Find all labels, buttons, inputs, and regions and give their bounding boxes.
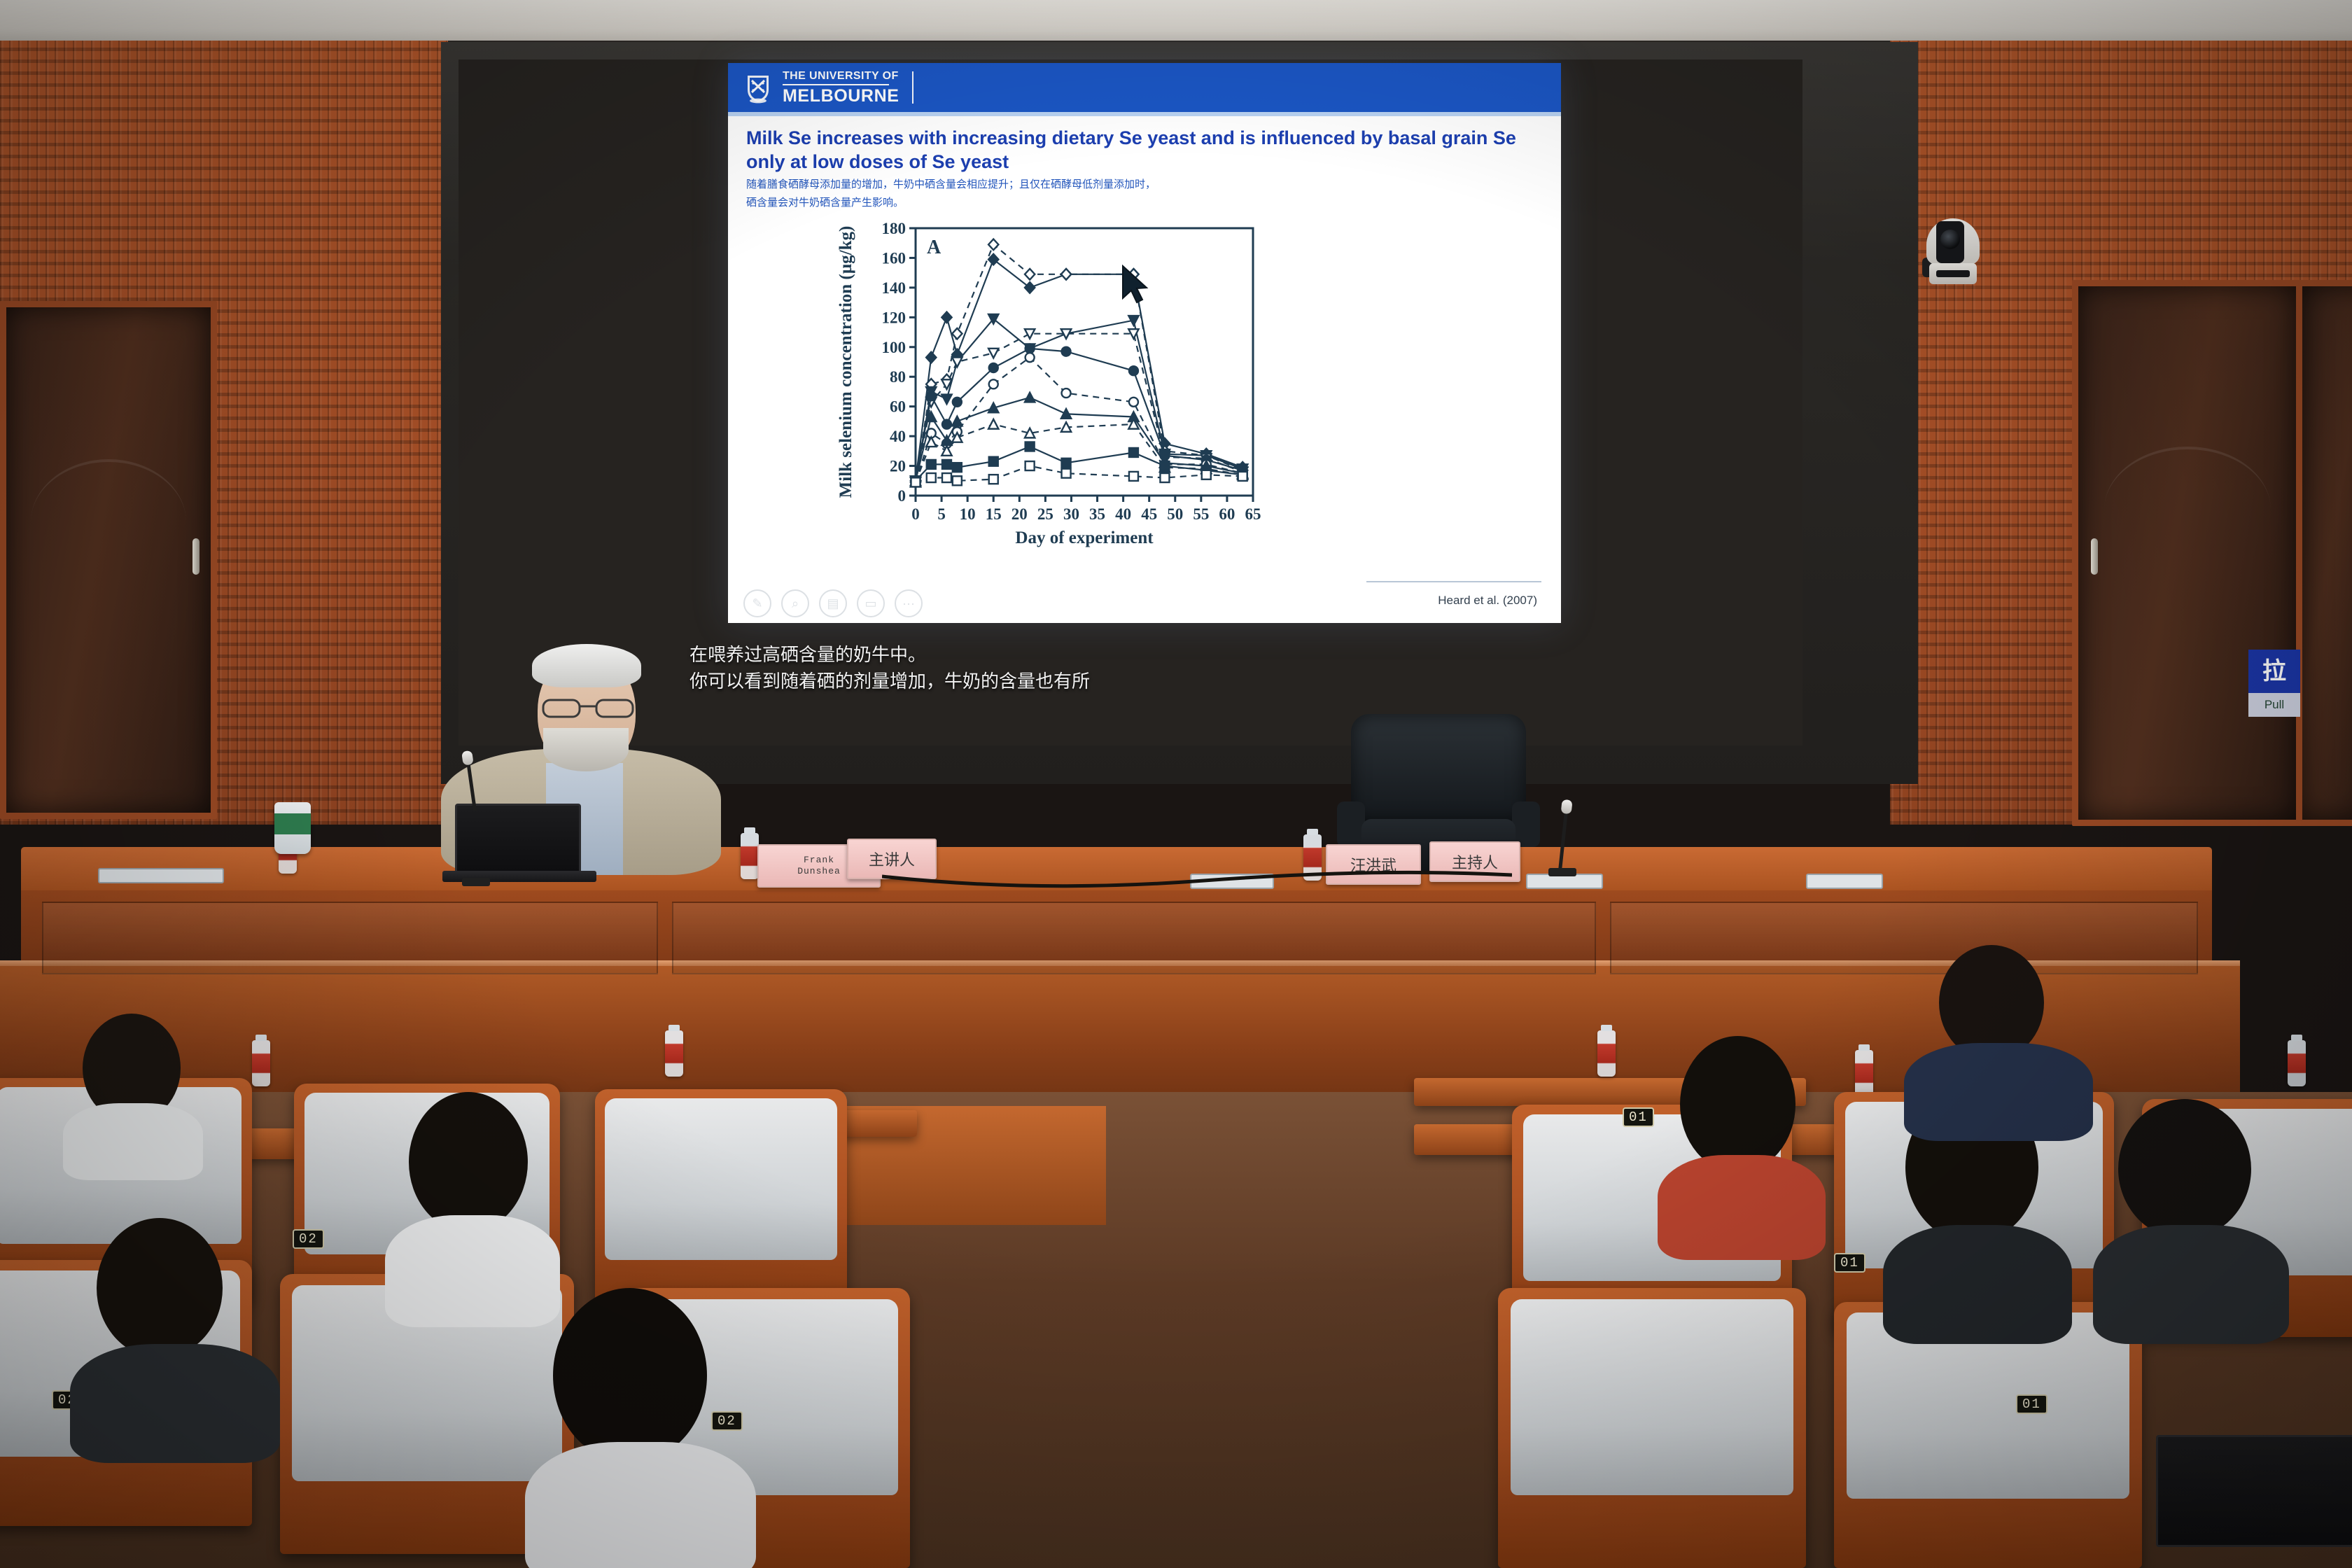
slide-title: Milk Se increases with increasing dietar… bbox=[746, 126, 1543, 174]
seat-number-plate: 01 bbox=[1623, 1107, 1654, 1127]
audience-torso bbox=[70, 1344, 280, 1463]
seat-number-plate: 02 bbox=[293, 1229, 324, 1249]
seat-pad bbox=[1511, 1299, 1794, 1495]
svg-text:180: 180 bbox=[882, 221, 906, 237]
caption-line-2: 你可以看到随着硒的剂量增加，牛奶的含量也有所 bbox=[689, 671, 1090, 692]
svg-text:60: 60 bbox=[1219, 505, 1235, 523]
door-pull-sign: 拉 Pull bbox=[2248, 650, 2300, 717]
audience-torso bbox=[2093, 1225, 2289, 1344]
screen-icon[interactable]: ▭ bbox=[857, 589, 885, 617]
citation-rule bbox=[1366, 581, 1541, 582]
laptop-screen[interactable] bbox=[455, 804, 581, 874]
bottle-cap bbox=[255, 1035, 267, 1041]
melbourne-crest-icon bbox=[743, 71, 773, 104]
bottle-cap bbox=[1601, 1025, 1612, 1031]
mic-base bbox=[1548, 868, 1576, 876]
svg-text:35: 35 bbox=[1089, 505, 1105, 523]
nameplate-line-1: Frank bbox=[804, 855, 834, 866]
chair-arm-left bbox=[1337, 801, 1365, 847]
svg-text:40: 40 bbox=[890, 428, 906, 445]
audience-member bbox=[1918, 945, 2072, 1127]
svg-text:Milk selenium concentration (µ: Milk selenium concentration (µg/kg) bbox=[836, 226, 855, 498]
water-bottle[interactable] bbox=[252, 1040, 270, 1086]
coffee-cup[interactable] bbox=[274, 802, 311, 854]
ptz-camera-icon bbox=[1924, 218, 1982, 286]
audience-head bbox=[553, 1288, 707, 1463]
svg-text:50: 50 bbox=[1167, 505, 1183, 523]
audience-head bbox=[97, 1218, 223, 1358]
slide-brand-header: THE UNIVERSITY OF MELBOURNE bbox=[728, 63, 1561, 112]
bottle-cap bbox=[744, 827, 755, 834]
water-bottle[interactable] bbox=[1855, 1050, 1873, 1096]
chart-svg: A020406080100120140160180051015202530354… bbox=[833, 221, 1267, 550]
audience-member bbox=[1666, 1036, 1813, 1246]
presenter-toolbar[interactable]: ✎ ⌕ ▤ ▭ ··· bbox=[743, 589, 923, 617]
mouse-cursor-icon bbox=[1120, 265, 1151, 305]
svg-text:80: 80 bbox=[890, 368, 906, 386]
header-divider bbox=[912, 71, 913, 104]
audience-head bbox=[2118, 1099, 2251, 1239]
bottle-cap bbox=[1307, 829, 1318, 835]
audience-head bbox=[1680, 1036, 1795, 1172]
pen-icon[interactable]: ✎ bbox=[743, 589, 771, 617]
audience-seat[interactable] bbox=[595, 1089, 847, 1320]
slide-subtitle-line1: 随着膳食硒酵母添加量的增加，牛奶中硒含量会相应提升；且仅在硒酵母低剂量添加时， bbox=[746, 177, 1543, 192]
magnifier-icon[interactable]: ⌕ bbox=[781, 589, 809, 617]
bottle-cap bbox=[1858, 1044, 1870, 1051]
svg-text:160: 160 bbox=[882, 249, 906, 267]
slide-citation: Heard et al. (2007) bbox=[1438, 594, 1537, 608]
water-bottle[interactable] bbox=[2288, 1040, 2306, 1086]
svg-text:45: 45 bbox=[1141, 505, 1157, 523]
caption-line-1: 在喂养过高硒含量的奶牛中。 bbox=[689, 645, 926, 666]
mic-base bbox=[462, 878, 490, 886]
dais-panel bbox=[672, 902, 1596, 974]
door-arch-detail bbox=[2104, 447, 2270, 510]
water-bottle[interactable] bbox=[1597, 1030, 1616, 1077]
bottle-cap bbox=[668, 1025, 680, 1031]
audience-member bbox=[2100, 1099, 2282, 1337]
university-wordmark: THE UNIVERSITY OF MELBOURNE bbox=[783, 71, 899, 105]
chair-arm-right bbox=[1512, 801, 1540, 847]
svg-text:A: A bbox=[927, 237, 941, 258]
slide-subtitle-line2: 硒含量会对牛奶硒含量产生影响。 bbox=[746, 195, 1543, 210]
svg-text:55: 55 bbox=[1193, 505, 1209, 523]
seat-pad bbox=[605, 1098, 836, 1260]
seat-number-plate: 01 bbox=[1834, 1253, 1865, 1273]
audience-torso bbox=[525, 1442, 756, 1568]
audience-member bbox=[532, 1288, 742, 1568]
audience-member bbox=[84, 1218, 259, 1449]
svg-text:Day of experiment: Day of experiment bbox=[1015, 528, 1154, 547]
brand-line-1: THE UNIVERSITY OF bbox=[783, 71, 899, 82]
brand-rule bbox=[783, 84, 889, 85]
svg-text:5: 5 bbox=[937, 505, 946, 523]
desk-mat bbox=[98, 868, 224, 883]
seat-number-plate: 01 bbox=[2016, 1394, 2047, 1414]
svg-text:25: 25 bbox=[1037, 505, 1053, 523]
audience-seat[interactable] bbox=[1498, 1288, 1806, 1568]
svg-text:100: 100 bbox=[882, 339, 906, 356]
live-caption: 在喂养过高硒含量的奶牛中。 你可以看到随着硒的剂量增加，牛奶的含量也有所 bbox=[689, 643, 1090, 695]
svg-text:40: 40 bbox=[1115, 505, 1131, 523]
door-arch-detail bbox=[31, 459, 186, 522]
slide-body: Milk Se increases with increasing dietar… bbox=[728, 116, 1561, 623]
audience-torso bbox=[1658, 1155, 1826, 1260]
svg-text:0: 0 bbox=[911, 505, 920, 523]
glasses-icon bbox=[540, 696, 636, 720]
lecture-hall-photo: 拉 Pull bbox=[0, 0, 2352, 1568]
door-handle-left[interactable] bbox=[192, 538, 199, 575]
svg-text:60: 60 bbox=[890, 398, 906, 416]
camera-lens bbox=[1940, 230, 1960, 249]
svg-text:20: 20 bbox=[890, 458, 906, 475]
audience-laptop[interactable] bbox=[2156, 1435, 2352, 1547]
door-left[interactable] bbox=[0, 301, 217, 819]
pull-sign-en: Pull bbox=[2248, 693, 2300, 717]
audience-head bbox=[409, 1092, 528, 1232]
door-handle-right[interactable] bbox=[2091, 538, 2098, 575]
chair-back bbox=[1351, 714, 1526, 822]
brand-line-2: MELBOURNE bbox=[783, 87, 899, 105]
svg-text:0: 0 bbox=[898, 487, 906, 505]
mic-head bbox=[1561, 799, 1573, 814]
speaker-beard bbox=[543, 728, 629, 771]
camera-slot bbox=[1936, 270, 1970, 277]
audience-torso bbox=[63, 1103, 203, 1180]
svg-text:120: 120 bbox=[882, 309, 906, 326]
audience-torso bbox=[1883, 1225, 2072, 1344]
audience-member bbox=[392, 1092, 553, 1323]
svg-text:15: 15 bbox=[986, 505, 1002, 523]
svg-text:30: 30 bbox=[1063, 505, 1079, 523]
audience-member bbox=[67, 1014, 200, 1175]
more-icon[interactable]: ··· bbox=[895, 589, 923, 617]
door-right[interactable] bbox=[2072, 280, 2303, 826]
svg-text:20: 20 bbox=[1011, 505, 1028, 523]
milk-selenium-chart: A020406080100120140160180051015202530354… bbox=[833, 221, 1267, 550]
slides-icon[interactable]: ▤ bbox=[819, 589, 847, 617]
door-right-secondary[interactable] bbox=[2296, 280, 2352, 826]
svg-text:140: 140 bbox=[882, 279, 906, 297]
presentation-slide: THE UNIVERSITY OF MELBOURNE Milk Se incr… bbox=[728, 63, 1561, 623]
dais-panel bbox=[42, 902, 658, 974]
dais-panel bbox=[1610, 902, 2198, 974]
nameplate-line-2: Dunshea bbox=[797, 866, 841, 877]
svg-text:10: 10 bbox=[960, 505, 976, 523]
pull-sign-zh: 拉 bbox=[2248, 650, 2300, 693]
water-bottle[interactable] bbox=[665, 1030, 683, 1077]
cup-band bbox=[274, 813, 311, 834]
bottle-cap bbox=[2291, 1035, 2302, 1041]
desk-mat bbox=[1806, 874, 1883, 889]
svg-text:65: 65 bbox=[1245, 505, 1261, 523]
water-bottle[interactable] bbox=[741, 833, 759, 879]
desk-cable bbox=[882, 862, 1512, 897]
audience-torso bbox=[1904, 1043, 2093, 1141]
speaker-hair bbox=[532, 644, 641, 687]
